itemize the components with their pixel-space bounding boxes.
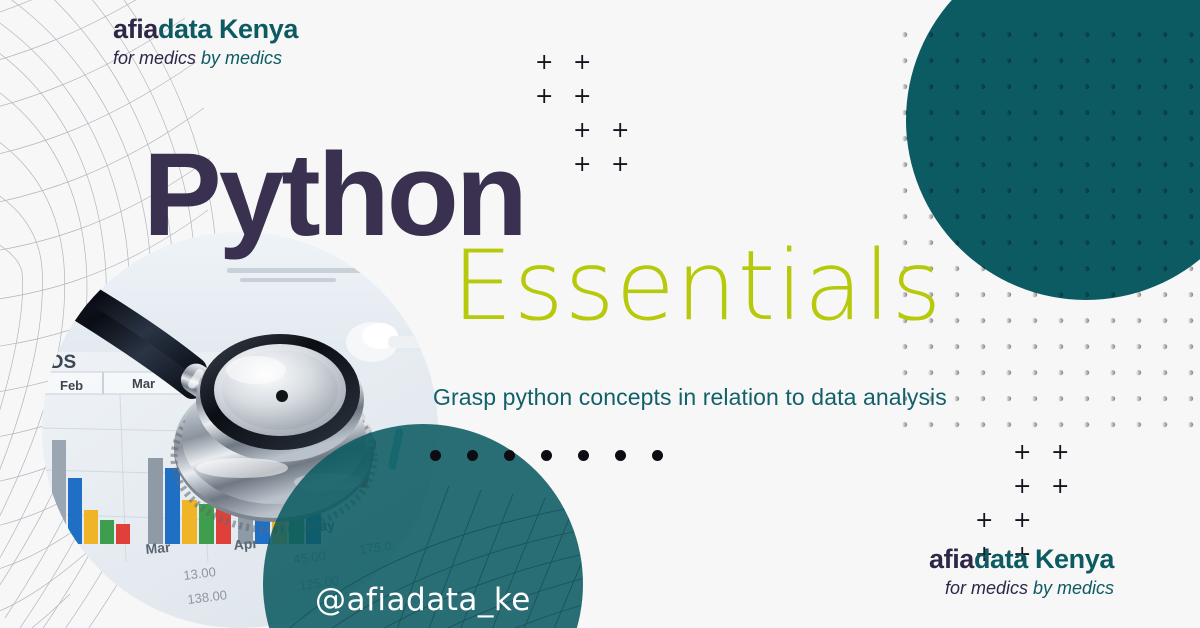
plus-icon: + bbox=[535, 52, 553, 74]
dot-row-decor bbox=[430, 450, 663, 461]
social-handle: @afiadata_ke bbox=[315, 582, 531, 618]
dot-icon bbox=[578, 450, 589, 461]
dot-icon bbox=[430, 450, 441, 461]
plus-icon: + bbox=[1051, 476, 1069, 498]
plus-icon: + bbox=[535, 86, 553, 108]
logo-top-left: afiadata Kenya for medics by medics bbox=[113, 14, 298, 71]
banner-canvas: NDS Feb Mar bbox=[0, 0, 1200, 628]
logo-word-afia: afia bbox=[113, 14, 158, 44]
logo-tagline: for medics by medics bbox=[113, 47, 298, 70]
plus-icon: + bbox=[573, 52, 591, 74]
dot-icon bbox=[504, 450, 515, 461]
plus-icon: + bbox=[1013, 476, 1031, 498]
dot-icon bbox=[652, 450, 663, 461]
headline-sub: Essentials bbox=[452, 238, 942, 334]
plus-icon: + bbox=[1051, 442, 1069, 464]
plus-icon: + bbox=[573, 120, 591, 142]
plus-icon: + bbox=[611, 120, 629, 142]
plus-icon: + bbox=[1013, 510, 1031, 532]
svg-text:Mar: Mar bbox=[145, 539, 172, 557]
logo-word-data-kenya: data Kenya bbox=[158, 14, 298, 44]
plus-icon: + bbox=[573, 86, 591, 108]
logo-tagline-part2: by medics bbox=[1033, 578, 1114, 598]
dot-icon bbox=[541, 450, 552, 461]
plus-icon: + bbox=[975, 510, 993, 532]
logo-word-afia: afia bbox=[929, 544, 974, 574]
dot-icon bbox=[467, 450, 478, 461]
logo-wordmark: afiadata Kenya bbox=[113, 14, 298, 45]
plus-icon: + bbox=[1013, 442, 1031, 464]
logo-bottom-right: afiadata Kenya for medics by medics bbox=[929, 544, 1114, 601]
logo-tagline: for medics by medics bbox=[929, 577, 1114, 600]
course-tagline: Grasp python concepts in relation to dat… bbox=[433, 384, 947, 411]
svg-text:Apr: Apr bbox=[233, 535, 259, 553]
dot-icon bbox=[615, 450, 626, 461]
plus-icon: + bbox=[573, 154, 591, 176]
logo-word-data-kenya: data Kenya bbox=[974, 544, 1114, 574]
svg-text:Mar: Mar bbox=[132, 376, 155, 391]
plus-icon: + bbox=[611, 154, 629, 176]
logo-wordmark: afiadata Kenya bbox=[929, 544, 1114, 575]
plus-pattern-top: + + + + + + + + bbox=[535, 52, 635, 172]
logo-tagline-part1: for medics bbox=[945, 578, 1033, 598]
logo-tagline-part2: by medics bbox=[201, 48, 282, 68]
svg-text:Feb: Feb bbox=[60, 378, 83, 393]
logo-tagline-part1: for medics bbox=[113, 48, 201, 68]
